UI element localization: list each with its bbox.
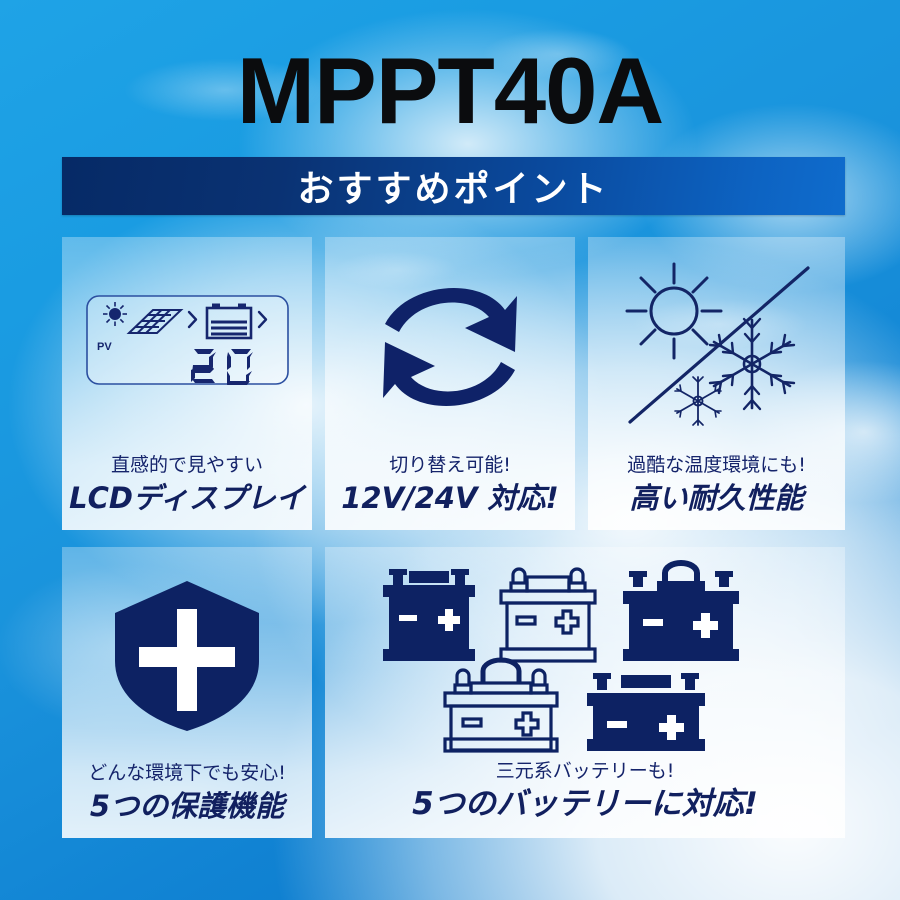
- feature-card-protection: どんな環境下でも安心! 5つの保護機能: [62, 547, 312, 838]
- lcd-pv-label: PV: [97, 341, 112, 353]
- batteries-caption-sub: 三元系バッテリーも!: [325, 760, 845, 784]
- protection-icon-area: [62, 547, 312, 762]
- feature-card-voltage: 切り替え可能! 12V/24V 対応!: [325, 237, 575, 530]
- protection-caption-sub: どんな環境下でも安心!: [62, 762, 312, 786]
- durability-caption-sub: 過酷な温度環境にも!: [588, 454, 845, 478]
- voltage-icon-area: [325, 237, 575, 454]
- sun-snowflake-icon: [612, 256, 822, 436]
- lcd-caption-main: LCDディスプレイ: [62, 480, 312, 516]
- swap-arrows-icon: [365, 266, 535, 426]
- shield-cross-icon: [107, 575, 267, 735]
- durability-caption-main: 高い耐久性能: [588, 480, 845, 516]
- voltage-caption: 切り替え可能! 12V/24V 対応!: [325, 454, 575, 530]
- battery-icon-2: [501, 569, 595, 661]
- feature-card-durability: 過酷な温度環境にも! 高い耐久性能: [588, 237, 845, 530]
- protection-caption-main: 5つの保護機能: [62, 788, 312, 824]
- protection-caption: どんな環境下でも安心! 5つの保護機能: [62, 762, 312, 838]
- voltage-caption-sub: 切り替え可能!: [325, 454, 575, 478]
- durability-icon-area: [588, 237, 845, 454]
- battery-icon-4: [445, 660, 557, 751]
- snowflake-large-icon: [710, 319, 794, 409]
- batteries-caption: 三元系バッテリーも! 5つのバッテリーに対応!: [325, 760, 845, 839]
- feature-card-batteries: 三元系バッテリーも! 5つのバッテリーに対応!: [325, 547, 845, 838]
- voltage-caption-main: 12V/24V 対応!: [325, 480, 575, 516]
- durability-caption: 過酷な温度環境にも! 高い耐久性能: [588, 454, 845, 530]
- feature-card-lcd: PV: [62, 237, 312, 530]
- batteries-caption-main: 5つのバッテリーに対応!: [325, 785, 845, 824]
- lcd-caption: 直感的で見やすい LCDディスプレイ: [62, 454, 312, 530]
- lcd-display-icon: PV: [85, 294, 290, 391]
- lcd-display-svg: PV: [85, 294, 290, 386]
- battery-icon-3: [623, 563, 739, 661]
- banner-label: おすすめポイント: [297, 160, 609, 212]
- snowflake-small-icon: [675, 377, 721, 425]
- highlights-banner: おすすめポイント: [62, 157, 845, 215]
- battery-icon-1: [383, 569, 475, 661]
- sun-icon: [627, 264, 721, 358]
- batteries-icon-area: [325, 547, 845, 760]
- lcd-caption-sub: 直感的で見やすい: [62, 454, 312, 478]
- five-batteries-icon: [375, 553, 795, 753]
- lcd-icon-area: PV: [62, 237, 312, 454]
- page-title: MPPT40A: [0, 44, 900, 138]
- battery-icon-5: [587, 673, 705, 751]
